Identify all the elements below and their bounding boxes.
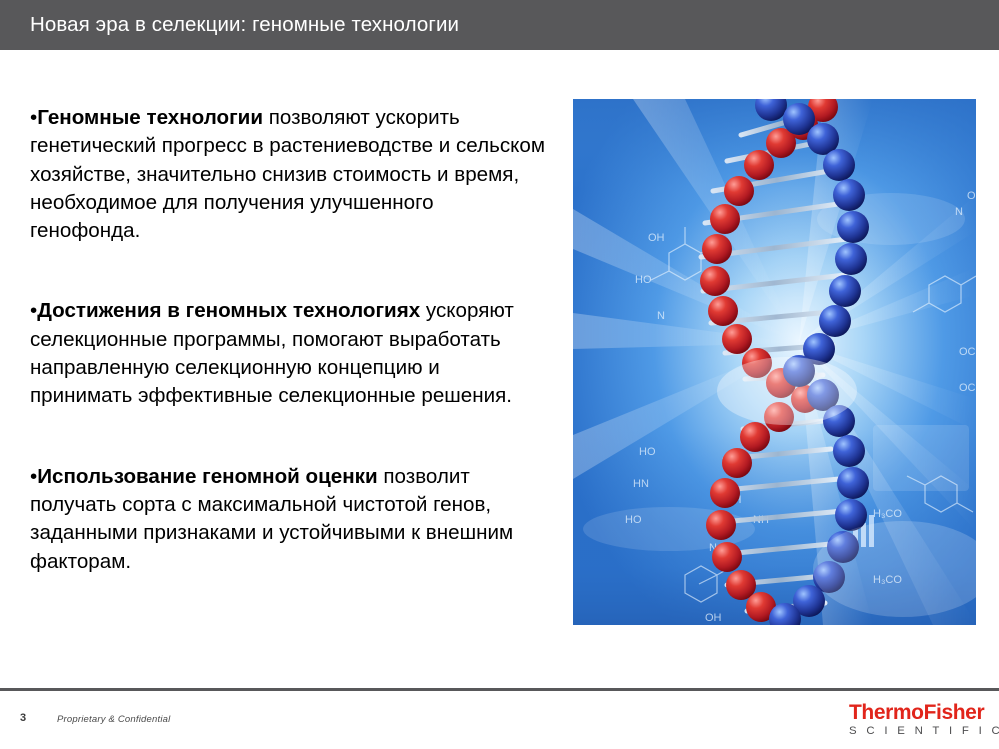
page-number: 3 (20, 712, 26, 724)
svg-text:OC: OC (959, 382, 976, 394)
svg-text:OH: OH (705, 612, 722, 624)
svg-text:OH: OH (967, 190, 976, 202)
svg-text:HO: HO (639, 446, 656, 458)
svg-text:N: N (955, 206, 963, 218)
dna-helix-illustration: OH HO N OH HO N NH OH OH N H₃CO H₃CO OCH… (573, 99, 976, 625)
bullet-lead-1: Геномные технологии (37, 106, 263, 129)
thermofisher-logo: ThermoFisher S C I E N T I F I C (849, 702, 981, 738)
slide-body-text: •Геномные технологии позволяют ускорить … (30, 104, 546, 576)
logo-wordmark: ThermoFisher (849, 702, 981, 723)
bullet-paragraph-1: •Геномные технологии позволяют ускорить … (30, 104, 546, 245)
bullet-lead-2: Достижения в геномных технологиях (37, 299, 420, 322)
svg-text:OH: OH (648, 232, 665, 244)
footer-divider (0, 688, 999, 691)
bullet-paragraph-2: •Достижения в геномных технологиях ускор… (30, 297, 546, 410)
svg-text:OCH₃: OCH₃ (959, 346, 976, 358)
svg-text:HN: HN (633, 478, 649, 490)
bullet-lead-3: Использование геномной оценки (37, 465, 377, 488)
confidentiality-note: Proprietary & Confidential (57, 714, 170, 725)
svg-text:N: N (657, 310, 665, 322)
svg-text:HO: HO (625, 514, 642, 526)
svg-text:HO: HO (635, 274, 652, 286)
dna-helix-image: OH HO N OH HO N NH OH OH N H₃CO H₃CO OCH… (573, 99, 976, 625)
svg-text:H₃CO: H₃CO (873, 508, 902, 520)
page-title: Новая эра в селекции: геномные технологи… (30, 0, 459, 50)
slide: Новая эра в селекции: геномные технологи… (0, 0, 999, 749)
logo-tagline: S C I E N T I F I C (849, 724, 981, 738)
bullet-paragraph-3: •Использование геномной оценки позволит … (30, 463, 546, 576)
